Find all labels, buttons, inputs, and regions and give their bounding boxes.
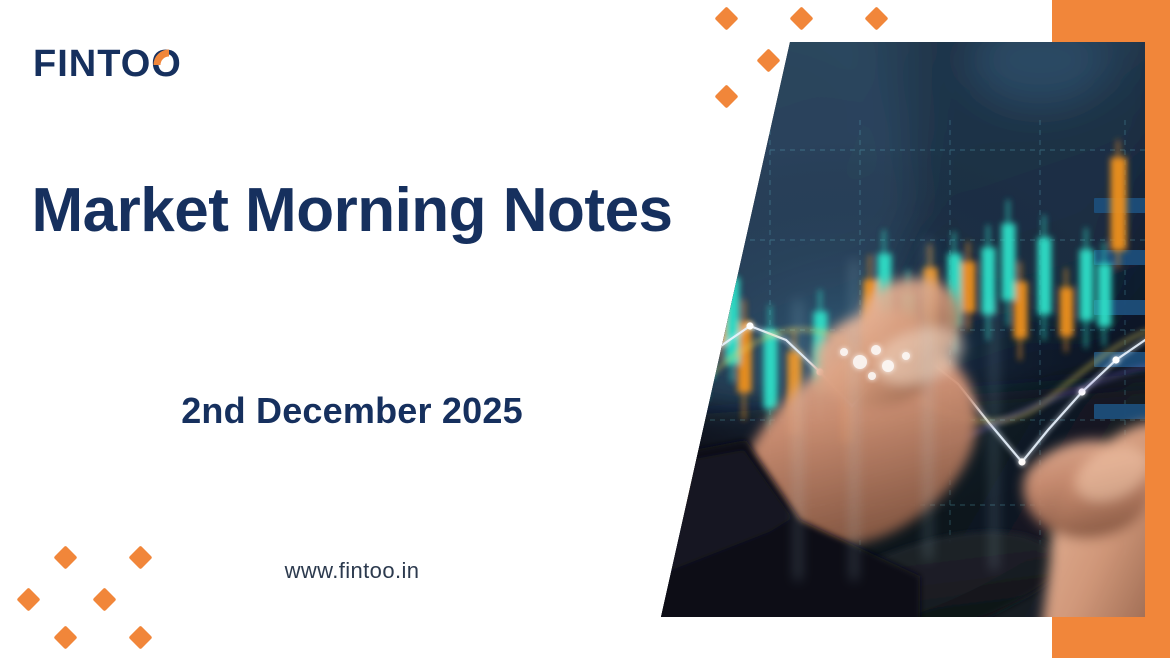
orange-diamond-bottom-left-3 [16,587,40,611]
orange-diamond-top-right-4 [756,48,780,72]
orange-diamond-bottom-left-5 [53,625,77,649]
hero-photo [620,0,1170,658]
orange-diamond-top-right-1 [714,6,738,30]
orange-diamond-bottom-left-6 [128,625,152,649]
poster-canvas: FINTOO Market Morning Notes 2nd December… [0,0,1170,658]
fintoo-logo[interactable]: FINTOO [33,43,213,85]
page-title: Market Morning Notes [22,178,682,245]
website-url[interactable]: www.fintoo.in [22,558,682,584]
orange-diamond-bottom-left-4 [92,587,116,611]
orange-diamond-top-right-2 [789,6,813,30]
orange-diamond-top-right-3 [864,6,888,30]
orange-diamond-top-right-5 [714,84,738,108]
issue-date: 2nd December 2025 [22,390,682,432]
